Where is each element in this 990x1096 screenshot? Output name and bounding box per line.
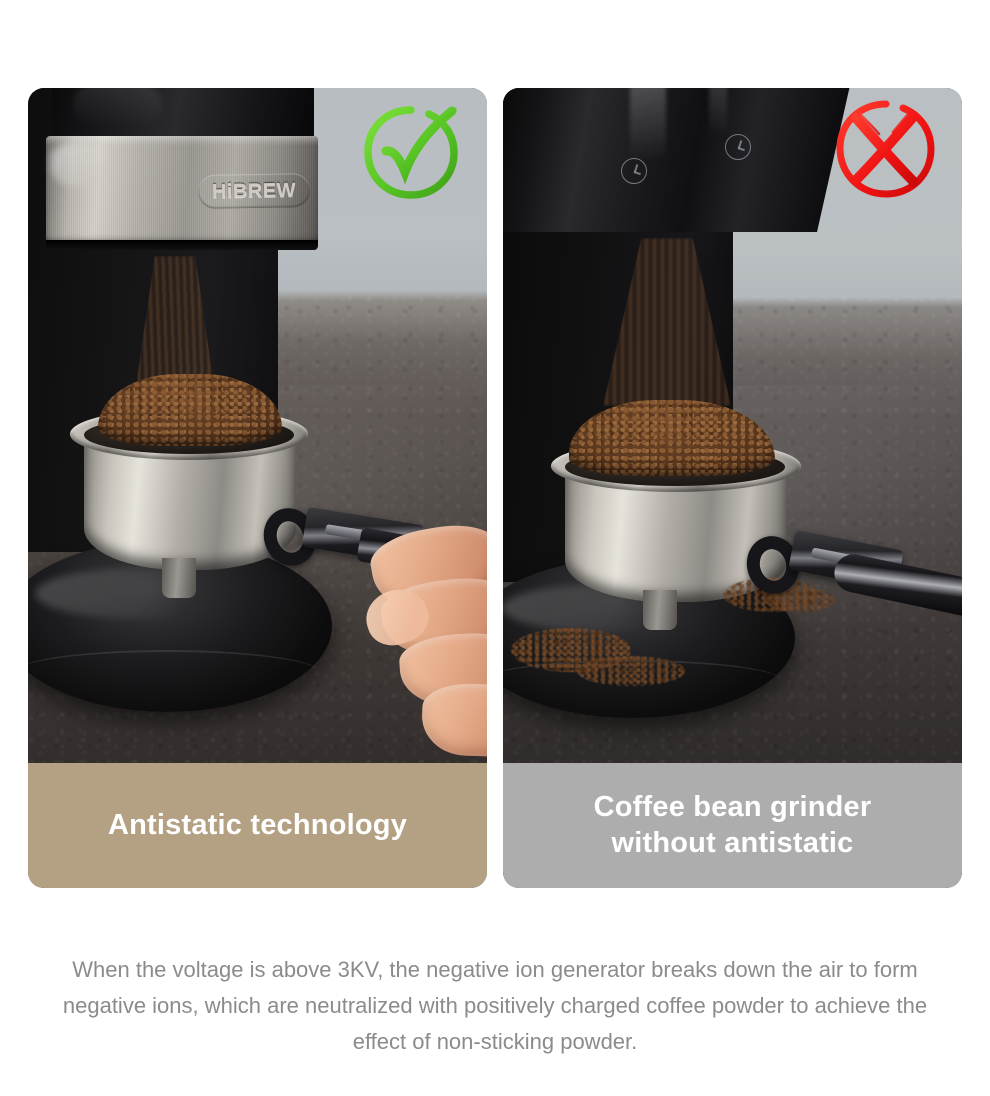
timer-icon	[725, 134, 751, 160]
hopper-gloss-streak	[709, 88, 727, 136]
portafilter-spout	[162, 558, 196, 598]
comparison-panel-antistatic[interactable]: HiBREW	[28, 88, 487, 888]
spilled-coffee-grounds	[577, 656, 685, 686]
red-cross-circle-icon	[830, 98, 938, 206]
hand-finger	[421, 682, 487, 758]
base-lip	[28, 650, 319, 695]
human-hand	[364, 524, 487, 763]
panel-caption-no-antistatic: Coffee bean grinder without antistatic	[503, 763, 962, 888]
green-check-circle-icon	[359, 102, 463, 206]
panel-caption-text: Antistatic technology	[108, 808, 407, 843]
grinder-steel-collar: HiBREW	[46, 136, 318, 244]
timer-icon	[621, 158, 647, 184]
comparison-panel-group: HiBREW	[28, 88, 962, 888]
hibrew-brand-emboss: HiBREW	[198, 173, 311, 209]
grinder-glossy-hopper	[503, 88, 853, 232]
panel-caption-antistatic: Antistatic technology	[28, 763, 487, 888]
panel-caption-text: Coffee bean grinder without antistatic	[594, 790, 872, 861]
photo-nonantistatic-grinder	[503, 88, 962, 763]
grinder-collar-underside	[46, 240, 318, 250]
product-feature-comparison-page: HiBREW	[0, 0, 990, 1096]
comparison-panel-no-antistatic[interactable]: Coffee bean grinder without antistatic	[503, 88, 962, 888]
portafilter-basket	[70, 408, 308, 588]
portafilter-spout	[643, 590, 677, 630]
steel-specular-highlight	[51, 142, 111, 185]
photo-antistatic-grinder: HiBREW	[28, 88, 487, 763]
feature-description-text: When the voltage is above 3KV, the negat…	[60, 952, 930, 1060]
